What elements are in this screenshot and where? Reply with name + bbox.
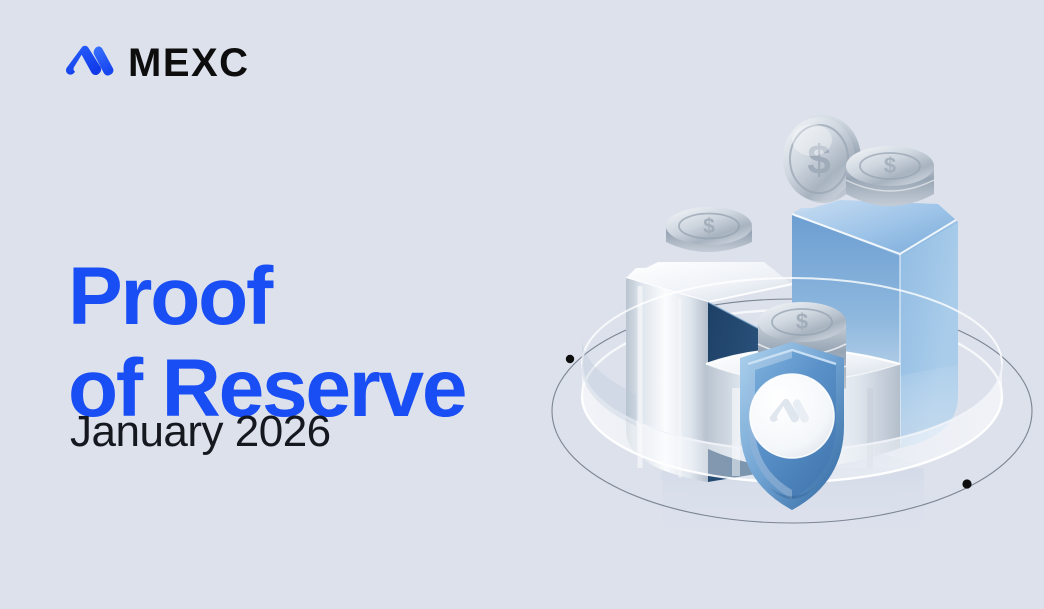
brand-wordmark: MEXC [128,43,250,83]
coin-stack-back: $ [846,146,934,206]
orbit-dot-right [962,479,971,488]
mexc-mountain-mark-icon [66,45,114,81]
brand-logo: MEXC [66,40,250,86]
orbit-dot-left [566,355,574,363]
coin-single-left: $ [666,207,752,252]
proof-of-reserve-banner: MEXC Proof of Reserve January 2026 [0,0,1044,609]
svg-text:$: $ [796,309,808,334]
svg-text:$: $ [703,215,715,238]
proof-of-reserve-illustration: $ $ $ [540,96,1044,566]
page-subtitle: January 2026 [70,406,331,459]
svg-text:$: $ [884,153,896,178]
